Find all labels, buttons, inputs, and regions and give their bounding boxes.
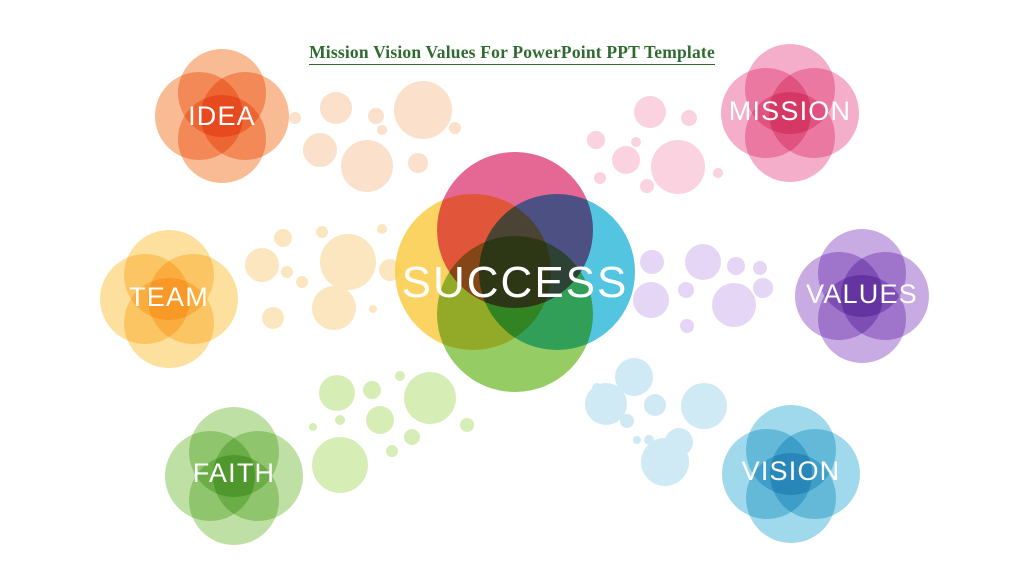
decorative-dot — [312, 437, 368, 493]
decorative-dot — [368, 108, 384, 124]
decorative-dot — [587, 131, 605, 149]
decorative-dot — [680, 319, 694, 333]
cluster-petal-left — [395, 194, 551, 350]
decorative-dot — [296, 276, 308, 288]
cluster-petal-left — [722, 429, 812, 519]
decorative-dot — [712, 283, 756, 327]
decorative-dot — [281, 266, 293, 278]
decorative-dot — [363, 381, 381, 399]
decorative-dot — [640, 250, 664, 274]
cluster-petal-left — [795, 252, 883, 340]
decorative-dot — [449, 122, 461, 134]
decorative-dot — [685, 244, 721, 280]
decorative-dot — [394, 81, 452, 139]
decorative-dot — [641, 438, 689, 486]
cluster-faith[interactable]: FAITH — [165, 407, 303, 545]
decorative-dot — [320, 92, 352, 124]
cluster-petal-left — [100, 254, 190, 344]
decorative-dot — [678, 282, 694, 298]
decorative-dot — [320, 234, 376, 290]
decorative-dot — [303, 133, 337, 167]
decorative-dot — [634, 96, 666, 128]
decorative-dot — [644, 394, 666, 416]
decorative-dot — [640, 179, 654, 193]
decorative-dot — [681, 383, 727, 429]
decorative-dot — [681, 110, 697, 126]
decorative-dot — [316, 226, 328, 238]
decorative-dot — [289, 112, 301, 124]
cluster-team[interactable]: TEAM — [100, 230, 238, 368]
decorative-dot — [633, 282, 669, 318]
decorative-dot — [633, 436, 641, 444]
decorative-dot — [631, 137, 641, 147]
decorative-dot — [312, 286, 356, 330]
decorative-dot — [727, 257, 745, 275]
decorative-dot — [386, 445, 398, 457]
decorative-dot — [377, 224, 387, 234]
decorative-dot — [274, 229, 292, 247]
decorative-dot — [753, 261, 767, 275]
page-title-text: Mission Vision Values For PowerPoint PPT… — [309, 42, 715, 65]
decorative-dot — [369, 305, 377, 313]
cluster-values[interactable]: VALUES — [795, 229, 929, 363]
decorative-dot — [366, 406, 394, 434]
cluster-petal-left — [165, 431, 255, 521]
decorative-dot — [309, 423, 317, 431]
cluster-success[interactable]: SUCCESS — [395, 152, 635, 392]
decorative-dot — [665, 428, 693, 456]
cluster-petal-left — [155, 72, 243, 160]
decorative-dot — [753, 278, 773, 298]
decorative-dot — [262, 307, 284, 329]
decorative-dot — [377, 125, 387, 135]
cluster-idea[interactable]: IDEA — [155, 49, 289, 183]
decorative-dot — [319, 375, 355, 411]
slide-canvas: Mission Vision Values For PowerPoint PPT… — [0, 0, 1024, 576]
cluster-vision[interactable]: VISION — [722, 405, 860, 543]
decorative-dot — [341, 140, 393, 192]
decorative-dot — [335, 415, 345, 425]
cluster-petal-left — [721, 68, 811, 158]
decorative-dot — [644, 435, 654, 445]
decorative-dot — [460, 418, 474, 432]
decorative-dot — [245, 248, 279, 282]
decorative-dot — [404, 429, 420, 445]
decorative-dot — [651, 140, 705, 194]
decorative-dot — [620, 414, 634, 428]
cluster-mission[interactable]: MISSION — [721, 44, 859, 182]
page-title: Mission Vision Values For PowerPoint PPT… — [0, 42, 1024, 63]
